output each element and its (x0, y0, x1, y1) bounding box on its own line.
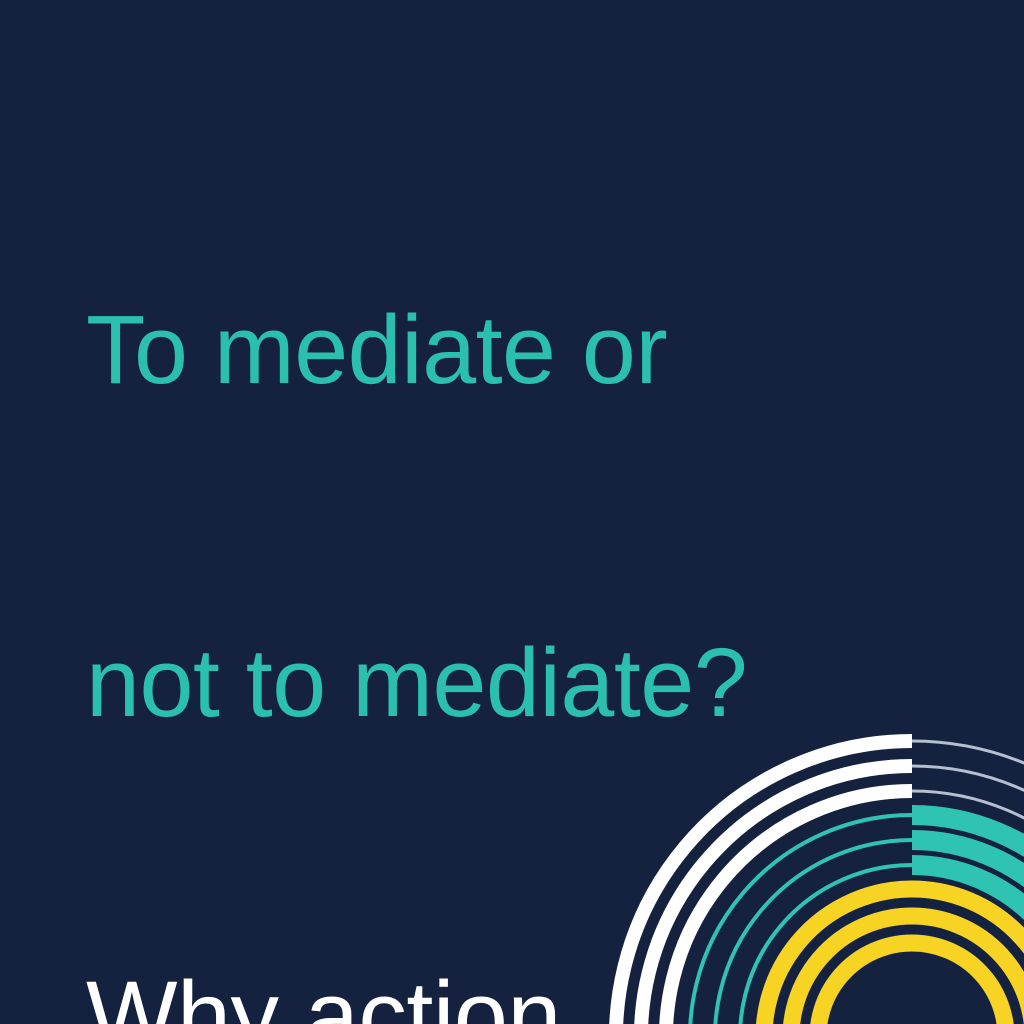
headline-line-3: Why action (86, 960, 936, 1024)
headline-line-2: not to mediate? (86, 627, 936, 738)
headline-line-1: To mediate or (86, 294, 936, 405)
page-title: To mediate or not to mediate? Why action… (86, 72, 936, 1024)
promo-card: To mediate or not to mediate? Why action… (0, 0, 1024, 1024)
